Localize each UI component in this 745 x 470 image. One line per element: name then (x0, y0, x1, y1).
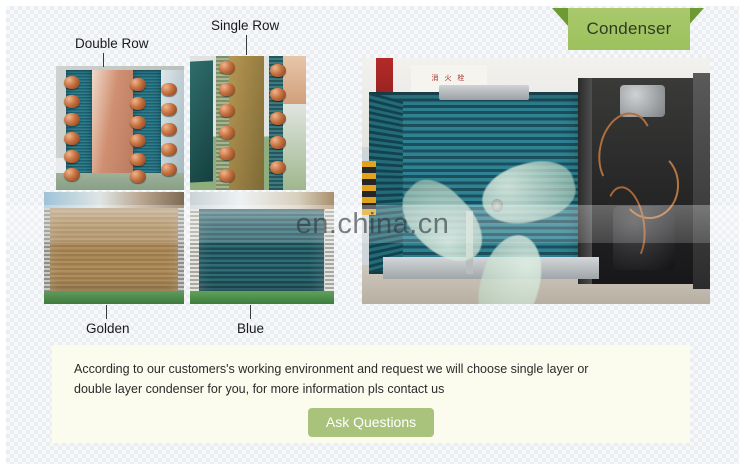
note-line-2: double layer condenser for you, for more… (74, 379, 668, 399)
callout-stem (106, 305, 107, 319)
page-root: 消 火 栓 Double Row Single Row Golden (0, 0, 745, 470)
info-note-box: According to our customers's working env… (52, 345, 690, 443)
photo-single-row (190, 56, 306, 190)
golden-fin-pack (48, 208, 180, 291)
callout-stem (250, 305, 251, 319)
callout-stem (103, 53, 104, 67)
banner-plate: Condenser (568, 8, 690, 50)
callout-stem (246, 35, 247, 55)
end-plate-left (190, 209, 199, 291)
photo-double-row (56, 66, 184, 190)
note-line-1: According to our customers's working env… (74, 359, 668, 379)
section-banner: Condenser (560, 8, 690, 50)
photo-blue-coil (190, 192, 334, 304)
ribbon-tail-right-icon (688, 8, 704, 26)
floor (44, 291, 184, 304)
photo-condensing-unit: 消 火 栓 (362, 58, 710, 304)
callout-label: Single Row (211, 18, 279, 33)
top-bracket (439, 85, 529, 100)
ribbon-tail-left-icon (552, 8, 568, 26)
end-plate-right (178, 208, 184, 291)
end-plate-right (325, 209, 334, 291)
note-button-row: Ask Questions (74, 408, 668, 437)
floor (190, 291, 334, 304)
callout-double-row: Double Row (75, 35, 149, 53)
fan-blade (389, 168, 497, 276)
callout-label: Double Row (75, 36, 149, 51)
callout-blue: Blue (237, 320, 264, 338)
hazard-stripe (362, 161, 376, 215)
callout-label: Blue (237, 321, 264, 336)
photo-golden-coil (44, 192, 184, 304)
banner-title: Condenser (587, 19, 672, 39)
right-rail (693, 73, 710, 289)
copper-tube-group (56, 66, 184, 190)
callout-single-row: Single Row (211, 17, 279, 35)
callout-golden: Golden (86, 320, 130, 338)
callout-label: Golden (86, 321, 130, 336)
ask-questions-button[interactable]: Ask Questions (308, 408, 434, 437)
end-plate-left (44, 208, 50, 291)
fan-blades (404, 127, 585, 280)
copper-tube-group (190, 56, 306, 190)
blue-fin-pack (197, 209, 324, 291)
fan-blade (476, 153, 582, 233)
